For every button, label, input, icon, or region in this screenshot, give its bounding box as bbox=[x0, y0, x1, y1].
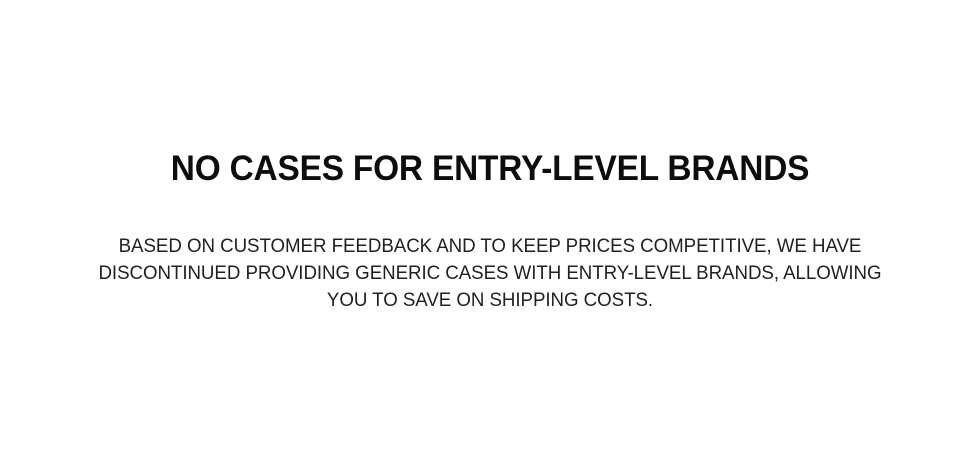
notice-body-text: BASED ON CUSTOMER FEEDBACK AND TO KEEP P… bbox=[96, 233, 884, 314]
notice-content-block: NO CASES FOR ENTRY-LEVEL BRANDS BASED ON… bbox=[40, 148, 940, 314]
notice-body-line-1: BASED ON CUSTOMER FEEDBACK AND TO KEEP P… bbox=[96, 233, 884, 260]
notice-heading: NO CASES FOR ENTRY-LEVEL BRANDS bbox=[60, 148, 920, 190]
notice-body-line-3: YOU TO SAVE ON SHIPPING COSTS. bbox=[96, 287, 884, 314]
notice-banner: NO CASES FOR ENTRY-LEVEL BRANDS BASED ON… bbox=[0, 0, 980, 450]
notice-body-line-2: DISCONTINUED PROVIDING GENERIC CASES WIT… bbox=[96, 260, 884, 287]
